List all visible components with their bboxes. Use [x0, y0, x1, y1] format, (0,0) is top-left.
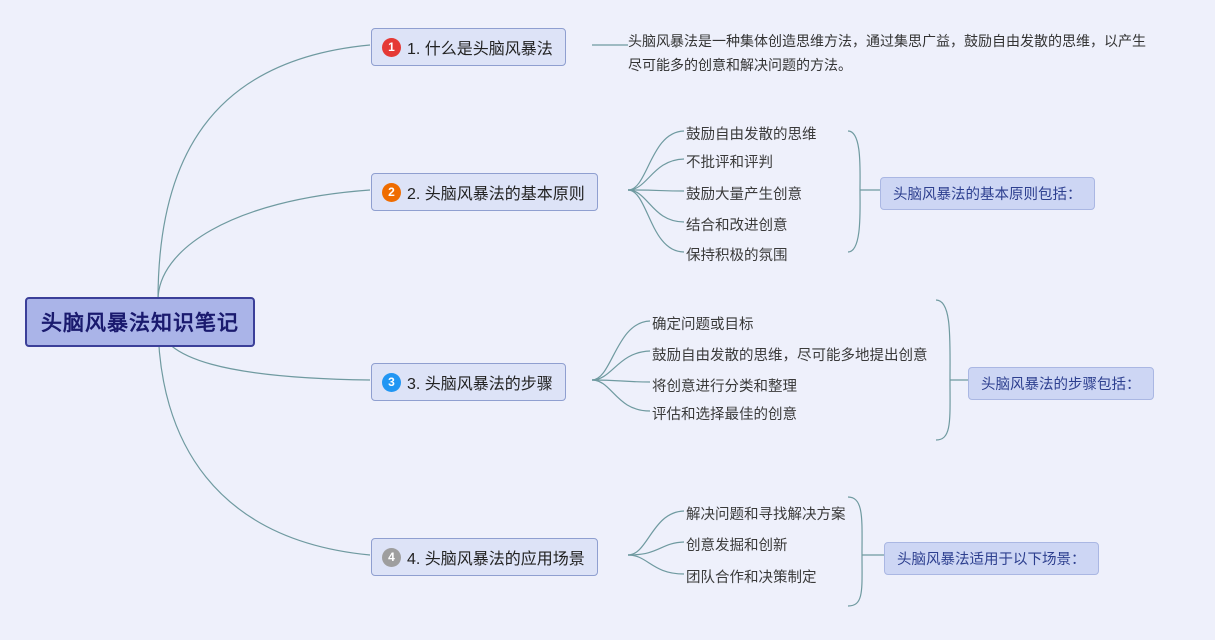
branch-label-1: 1. 什么是头脑风暴法: [407, 35, 553, 59]
branch-node-3[interactable]: 3 3. 头脑风暴法的步骤: [371, 363, 566, 401]
leaf-item[interactable]: 团队合作和决策制定: [686, 566, 817, 587]
branch-2-summary-note[interactable]: 头脑风暴法的基本原则包括：: [880, 177, 1095, 210]
leaf-item[interactable]: 鼓励大量产生创意: [686, 183, 802, 204]
branch-node-1[interactable]: 1 1. 什么是头脑风暴法: [371, 28, 566, 66]
leaf-item[interactable]: 鼓励自由发散的思维: [686, 123, 817, 144]
leaf-item[interactable]: 结合和改进创意: [686, 214, 788, 235]
branch-node-2[interactable]: 2 2. 头脑风暴法的基本原则: [371, 173, 598, 211]
branch-badge-1: 1: [382, 38, 401, 57]
branch-1-paragraph: 头脑风暴法是一种集体创造思维方法，通过集思广益，鼓励自由发散的思维，以产生尽可能…: [628, 30, 1156, 78]
branch-badge-2: 2: [382, 183, 401, 202]
branch-badge-3: 3: [382, 373, 401, 392]
leaf-item[interactable]: 创意发掘和创新: [686, 534, 788, 555]
branch-3-summary-note[interactable]: 头脑风暴法的步骤包括：: [968, 367, 1154, 400]
leaf-item[interactable]: 将创意进行分类和整理: [652, 375, 797, 396]
branch-4-summary-note[interactable]: 头脑风暴法适用于以下场景：: [884, 542, 1099, 575]
branch-node-4[interactable]: 4 4. 头脑风暴法的应用场景: [371, 538, 598, 576]
root-node-label: 头脑风暴法知识笔记: [41, 312, 239, 335]
branch-label-4: 4. 头脑风暴法的应用场景: [407, 545, 585, 569]
leaf-item[interactable]: 保持积极的氛围: [686, 244, 788, 265]
branch-label-3: 3. 头脑风暴法的步骤: [407, 370, 553, 394]
mindmap-canvas: 头脑风暴法知识笔记 1 1. 什么是头脑风暴法 头脑风暴法是一种集体创造思维方法…: [0, 0, 1215, 640]
branch-badge-4: 4: [382, 548, 401, 567]
root-node[interactable]: 头脑风暴法知识笔记: [25, 297, 255, 347]
leaf-item[interactable]: 解决问题和寻找解决方案: [686, 503, 846, 524]
leaf-item[interactable]: 评估和选择最佳的创意: [652, 403, 797, 424]
leaf-item[interactable]: 鼓励自由发散的思维，尽可能多地提出创意: [652, 344, 928, 365]
leaf-item[interactable]: 确定问题或目标: [652, 313, 754, 334]
leaf-item[interactable]: 不批评和评判: [686, 151, 773, 172]
branch-label-2: 2. 头脑风暴法的基本原则: [407, 180, 585, 204]
